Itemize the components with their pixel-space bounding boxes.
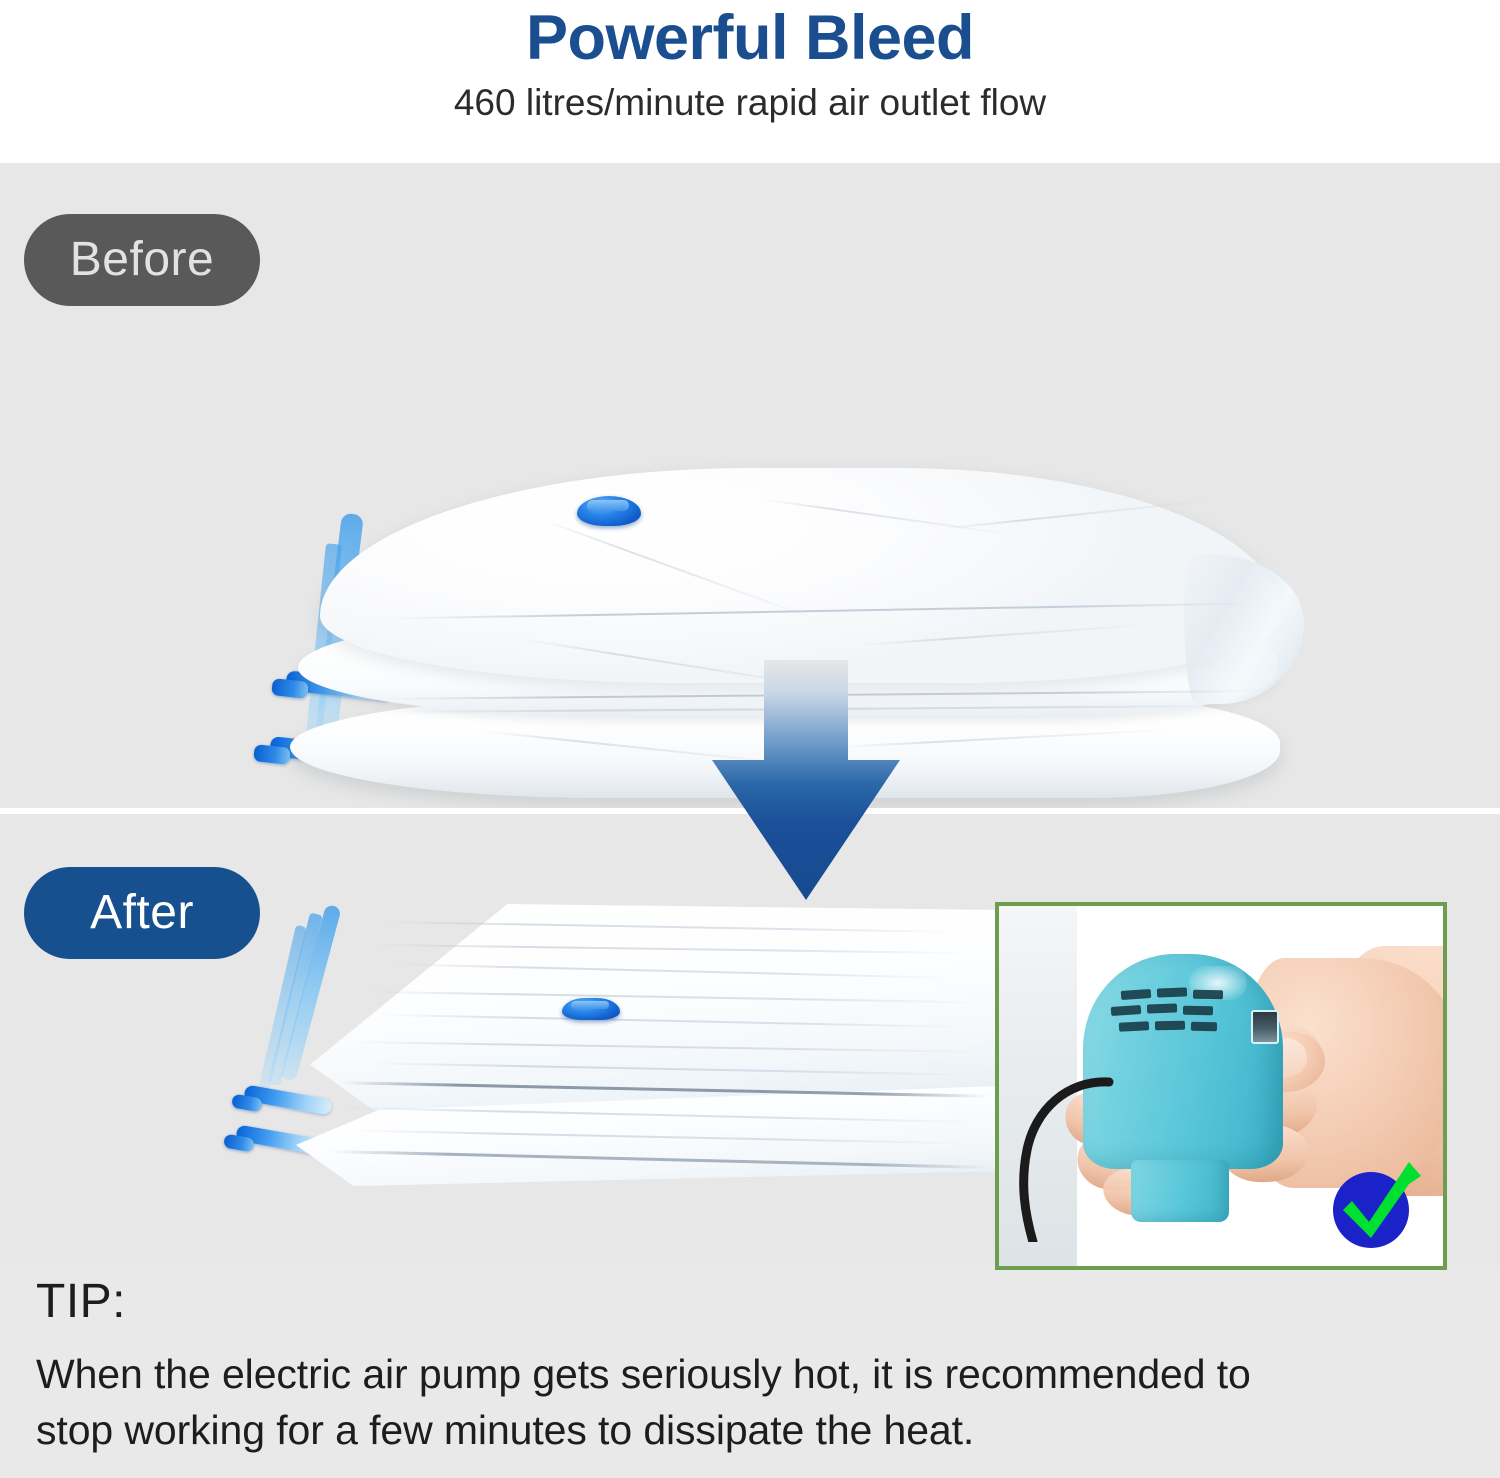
bag-valve-cap [587,500,629,511]
product-infographic: Powerful Bleed 460 litres/minute rapid a… [0,0,1500,1478]
after-label-badge: After [24,867,260,959]
pump-vent-slot [1157,987,1187,997]
pump-nozzle [1131,1160,1229,1222]
before-label-text: Before [70,236,214,284]
bag-valve-cap [571,1001,609,1009]
after-bag-image [230,900,1020,1200]
bag-upper-lobe [320,468,1280,683]
pump-power-port [1251,1010,1279,1044]
tip-text: When the electric air pump gets seriousl… [36,1346,1476,1458]
page-title: Powerful Bleed [0,2,1500,74]
bag-zipper-tab [253,744,291,765]
header-banner: Powerful Bleed 460 litres/minute rapid a… [0,0,1500,163]
pump-vent-slot [1183,1006,1213,1016]
pump-vent-slot [1119,1021,1149,1032]
check-circle-icon [1325,1154,1429,1254]
pump-vent-slot [1193,990,1223,1000]
tip-text-line-2: stop working for a few minutes to dissip… [36,1402,1476,1458]
pump-vent-slot [1147,1003,1177,1013]
before-label-badge: Before [24,214,260,306]
bag-upper-slab [310,904,1015,1110]
bag-zipper-tab [271,678,309,699]
after-label-text: After [90,889,194,937]
pump-vent-slot [1191,1022,1217,1031]
page-subtitle: 460 litres/minute rapid air outlet flow [0,80,1500,126]
pump-inset-photo [995,902,1447,1270]
bag-plastic-corner [1184,554,1304,704]
pump-vent-slot [1155,1021,1185,1031]
tip-label: TIP: [36,1274,126,1330]
pump-power-cable [1005,1074,1115,1242]
arrow-down-icon [694,660,918,925]
tip-text-line-1: When the electric air pump gets seriousl… [36,1346,1476,1402]
